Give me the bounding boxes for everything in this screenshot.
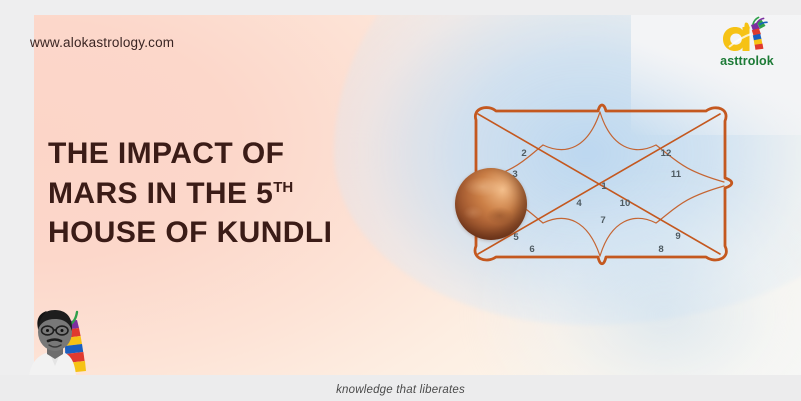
brand-logo[interactable]: asttrolok: [705, 16, 789, 74]
headline-line-2: MARS IN THE 5th: [48, 174, 448, 214]
page-title: THE IMPACT OF MARS IN THE 5th HOUSE OF K…: [48, 134, 448, 253]
kundli-house-numbers: 2 3 1 4 10 7 5 6 12 11 9 8: [512, 148, 681, 255]
house-number-9: 9: [675, 231, 680, 242]
house-number-12: 12: [661, 148, 672, 159]
house-number-5: 5: [513, 232, 519, 243]
headline-line-2-text: MARS IN THE 5: [48, 177, 273, 210]
house-number-10: 10: [620, 198, 631, 209]
astrologer-portrait-svg: [25, 300, 97, 376]
house-number-4: 4: [576, 198, 582, 209]
astrologer-portrait: [25, 300, 97, 376]
brand-tagline: knowledge that liberates: [0, 384, 801, 396]
headline-line-3: HOUSE OF KUNDLI: [48, 213, 448, 253]
headline-line-1: THE IMPACT OF: [48, 134, 448, 174]
house-number-1: 1: [601, 181, 607, 192]
house-number-8: 8: [658, 244, 664, 255]
banner-root: www.alokastrology.com THE IMPACT OF MARS…: [0, 0, 801, 401]
brand-name: asttrolok: [705, 54, 789, 68]
site-url[interactable]: www.alokastrology.com: [30, 35, 174, 50]
house-number-6: 6: [529, 244, 534, 255]
house-number-7: 7: [600, 215, 605, 226]
headline-ordinal-suffix: th: [273, 179, 293, 196]
house-number-2: 2: [521, 148, 526, 159]
asttrolok-peacock-logo-icon: [705, 16, 789, 56]
house-number-11: 11: [671, 169, 682, 180]
mars-planet-icon: [455, 168, 527, 240]
